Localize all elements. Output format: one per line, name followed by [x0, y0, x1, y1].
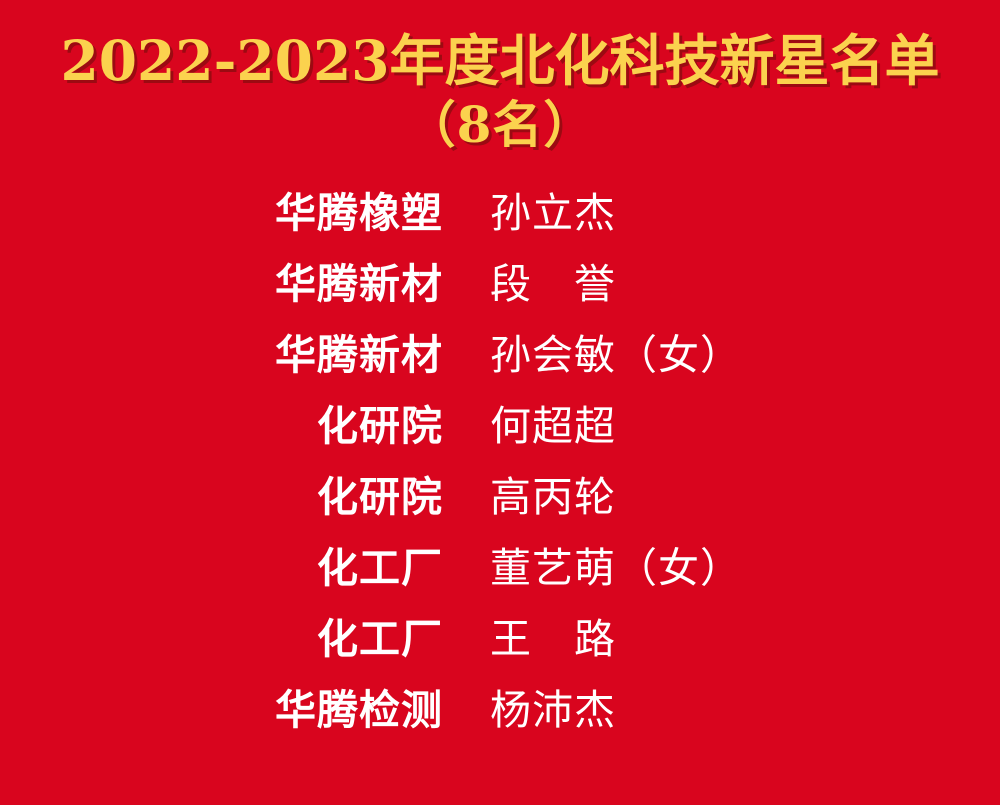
awardee-organization: 华腾检测	[0, 685, 443, 735]
awardee-organization: 化工厂	[0, 614, 443, 664]
awardee-organization: 华腾橡塑	[0, 188, 443, 238]
awardee-name: 王 路	[490, 614, 616, 664]
list-item: 化研院 何超超	[0, 401, 1000, 472]
awardee-name: 董艺萌（女）	[490, 543, 742, 593]
list-item: 华腾新材 孙会敏（女）	[0, 330, 1000, 401]
list-item: 华腾橡塑 孙立杰	[0, 188, 1000, 259]
list-item: 华腾检测 杨沛杰	[0, 685, 1000, 756]
awardee-organization: 化研院	[0, 472, 443, 522]
awardee-organization: 华腾新材	[0, 330, 443, 380]
award-list-poster: 2022-2023年度北化科技新星名单 （8名） 华腾橡塑 孙立杰 华腾新材 段…	[0, 0, 1000, 805]
awardee-organization: 化研院	[0, 401, 443, 451]
poster-title-subtitle: （8名）	[0, 92, 1000, 158]
awardee-name: 孙会敏（女）	[490, 330, 742, 380]
list-item: 化工厂 王 路	[0, 614, 1000, 685]
poster-title-main: 2022-2023年度北化科技新星名单	[0, 30, 1000, 92]
awardee-name: 杨沛杰	[490, 685, 616, 735]
list-item: 化工厂 董艺萌（女）	[0, 543, 1000, 614]
awardee-name: 段 誉	[490, 259, 616, 309]
awardee-name: 高丙轮	[490, 472, 616, 522]
awardee-organization: 化工厂	[0, 543, 443, 593]
list-item: 华腾新材 段 誉	[0, 259, 1000, 330]
awardee-name: 孙立杰	[490, 188, 616, 238]
awardee-name: 何超超	[490, 401, 616, 451]
poster-title-block: 2022-2023年度北化科技新星名单 （8名）	[0, 30, 1000, 158]
awardee-list: 华腾橡塑 孙立杰 华腾新材 段 誉 华腾新材 孙会敏（女） 化研院 何超超 化研…	[0, 188, 1000, 756]
awardee-organization: 华腾新材	[0, 259, 443, 309]
list-item: 化研院 高丙轮	[0, 472, 1000, 543]
